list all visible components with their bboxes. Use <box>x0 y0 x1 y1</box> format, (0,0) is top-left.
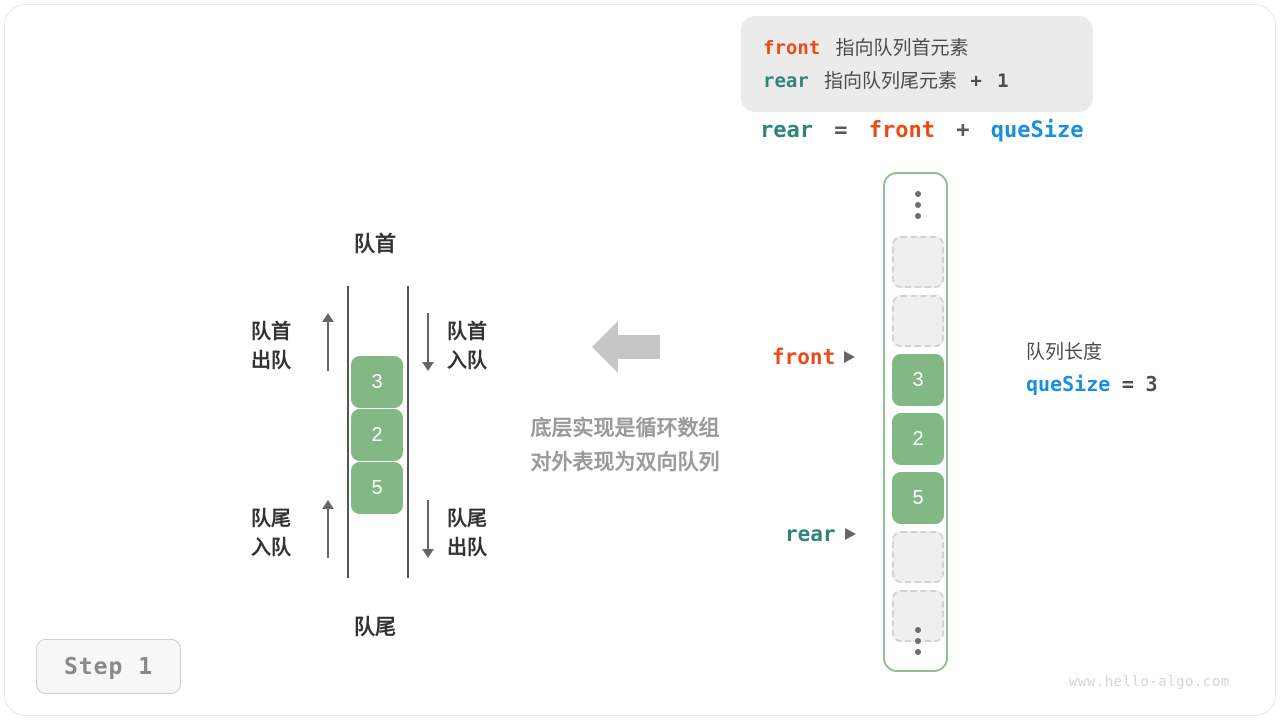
legend-line-rear: rear 指向队列尾元素 + 1 <box>763 65 1093 98</box>
array-cell-4[interactable]: 5 <box>892 472 944 524</box>
queue-size-expression: queSize = 3 <box>1026 368 1158 401</box>
label-head-enqueue: 队首 入队 <box>447 318 487 376</box>
queue-size-title: 队列长度 <box>1026 338 1158 368</box>
vertical-ellipsis-icon-bottom <box>885 622 950 655</box>
array-cell-3-value: 2 <box>912 428 923 451</box>
deque-cell-0[interactable]: 3 <box>351 356 403 408</box>
circular-array-container: 3 2 5 <box>883 172 948 672</box>
deque-cell-1-value: 2 <box>371 424 382 447</box>
formula-rear-equals-front-plus-quesize: rear = front + queSize <box>760 118 1083 143</box>
array-cell-3[interactable]: 2 <box>892 413 944 465</box>
label-tail-enqueue-line1: 队尾 <box>251 505 291 534</box>
watermark: www.hello-algo.com <box>1069 674 1230 690</box>
array-cell-5[interactable] <box>892 531 944 583</box>
label-tail-enqueue: 队尾 入队 <box>251 505 291 563</box>
formula-rear: rear <box>760 118 813 143</box>
deque-cell-2[interactable]: 5 <box>351 462 403 514</box>
deque-rail-right <box>407 286 409 578</box>
implementation-note-line2: 对外表现为双向队列 <box>503 446 747 480</box>
array-cell-2[interactable]: 3 <box>892 354 944 406</box>
queue-size-note: 队列长度 queSize = 3 <box>1026 338 1158 401</box>
array-cell-2-value: 3 <box>912 369 923 392</box>
arrow-down-tail-dequeue-icon <box>419 500 437 558</box>
label-head-dequeue-line2: 出队 <box>251 347 291 376</box>
front-pointer-label: front <box>772 345 835 369</box>
quesize-value: 3 <box>1145 372 1157 396</box>
label-tail-dequeue: 队尾 出队 <box>447 505 487 563</box>
label-head-dequeue-line1: 队首 <box>251 318 291 347</box>
legend-plus-sign: + <box>970 70 981 92</box>
legend-text-front: 指向队列首元素 <box>835 38 968 59</box>
rear-pointer-label: rear <box>785 522 836 546</box>
deque-cell-1[interactable]: 2 <box>351 409 403 461</box>
deque-cell-0-value: 3 <box>371 371 382 394</box>
array-cell-4-value: 5 <box>912 487 923 510</box>
diagram-canvas: front 指向队列首元素 rear 指向队列尾元素 + 1 rear = fr… <box>0 0 1280 720</box>
label-head-dequeue: 队首 出队 <box>251 318 291 376</box>
quesize-variable: queSize <box>1026 372 1110 396</box>
array-cell-1[interactable] <box>892 295 944 347</box>
label-tail-enqueue-line2: 入队 <box>251 534 291 563</box>
arrow-up-head-dequeue-icon <box>319 313 337 371</box>
big-left-arrow-icon <box>592 318 660 376</box>
implementation-note: 底层实现是循环数组 对外表现为双向队列 <box>503 412 747 480</box>
legend-box: front 指向队列首元素 rear 指向队列尾元素 + 1 <box>741 16 1093 112</box>
formula-front: front <box>869 118 935 143</box>
arrow-down-head-enqueue-icon <box>419 313 437 371</box>
legend-text-rear: 指向队列尾元素 <box>824 71 962 92</box>
pointer-triangle-icon <box>844 351 855 363</box>
label-tail-dequeue-line2: 出队 <box>447 534 487 563</box>
pointer-triangle-icon <box>845 528 856 540</box>
formula-equals: = <box>834 118 847 143</box>
formula-quesize: queSize <box>991 118 1084 143</box>
label-head-enqueue-line2: 入队 <box>447 347 487 376</box>
legend-term-rear: rear <box>763 70 809 92</box>
step-badge: Step 1 <box>36 639 181 694</box>
label-head-enqueue-line1: 队首 <box>447 318 487 347</box>
legend-line-front: front 指向队列首元素 <box>763 32 1093 65</box>
formula-plus: + <box>956 118 969 143</box>
rear-pointer: rear <box>785 522 856 546</box>
quesize-equals: = <box>1122 372 1134 396</box>
legend-term-front: front <box>763 37 820 59</box>
arrow-up-tail-enqueue-icon <box>319 500 337 558</box>
deque-cell-2-value: 5 <box>371 477 382 500</box>
front-pointer: front <box>772 345 855 369</box>
implementation-note-line1: 底层实现是循环数组 <box>503 412 747 446</box>
deque-rail-left <box>347 286 349 578</box>
array-cell-0[interactable] <box>892 236 944 288</box>
legend-offset-value: 1 <box>997 70 1008 92</box>
vertical-ellipsis-icon-top <box>885 186 950 219</box>
label-tail-dequeue-line1: 队尾 <box>447 505 487 534</box>
deque-tail-caption: 队尾 <box>340 611 410 641</box>
deque-head-caption: 队首 <box>340 228 410 258</box>
